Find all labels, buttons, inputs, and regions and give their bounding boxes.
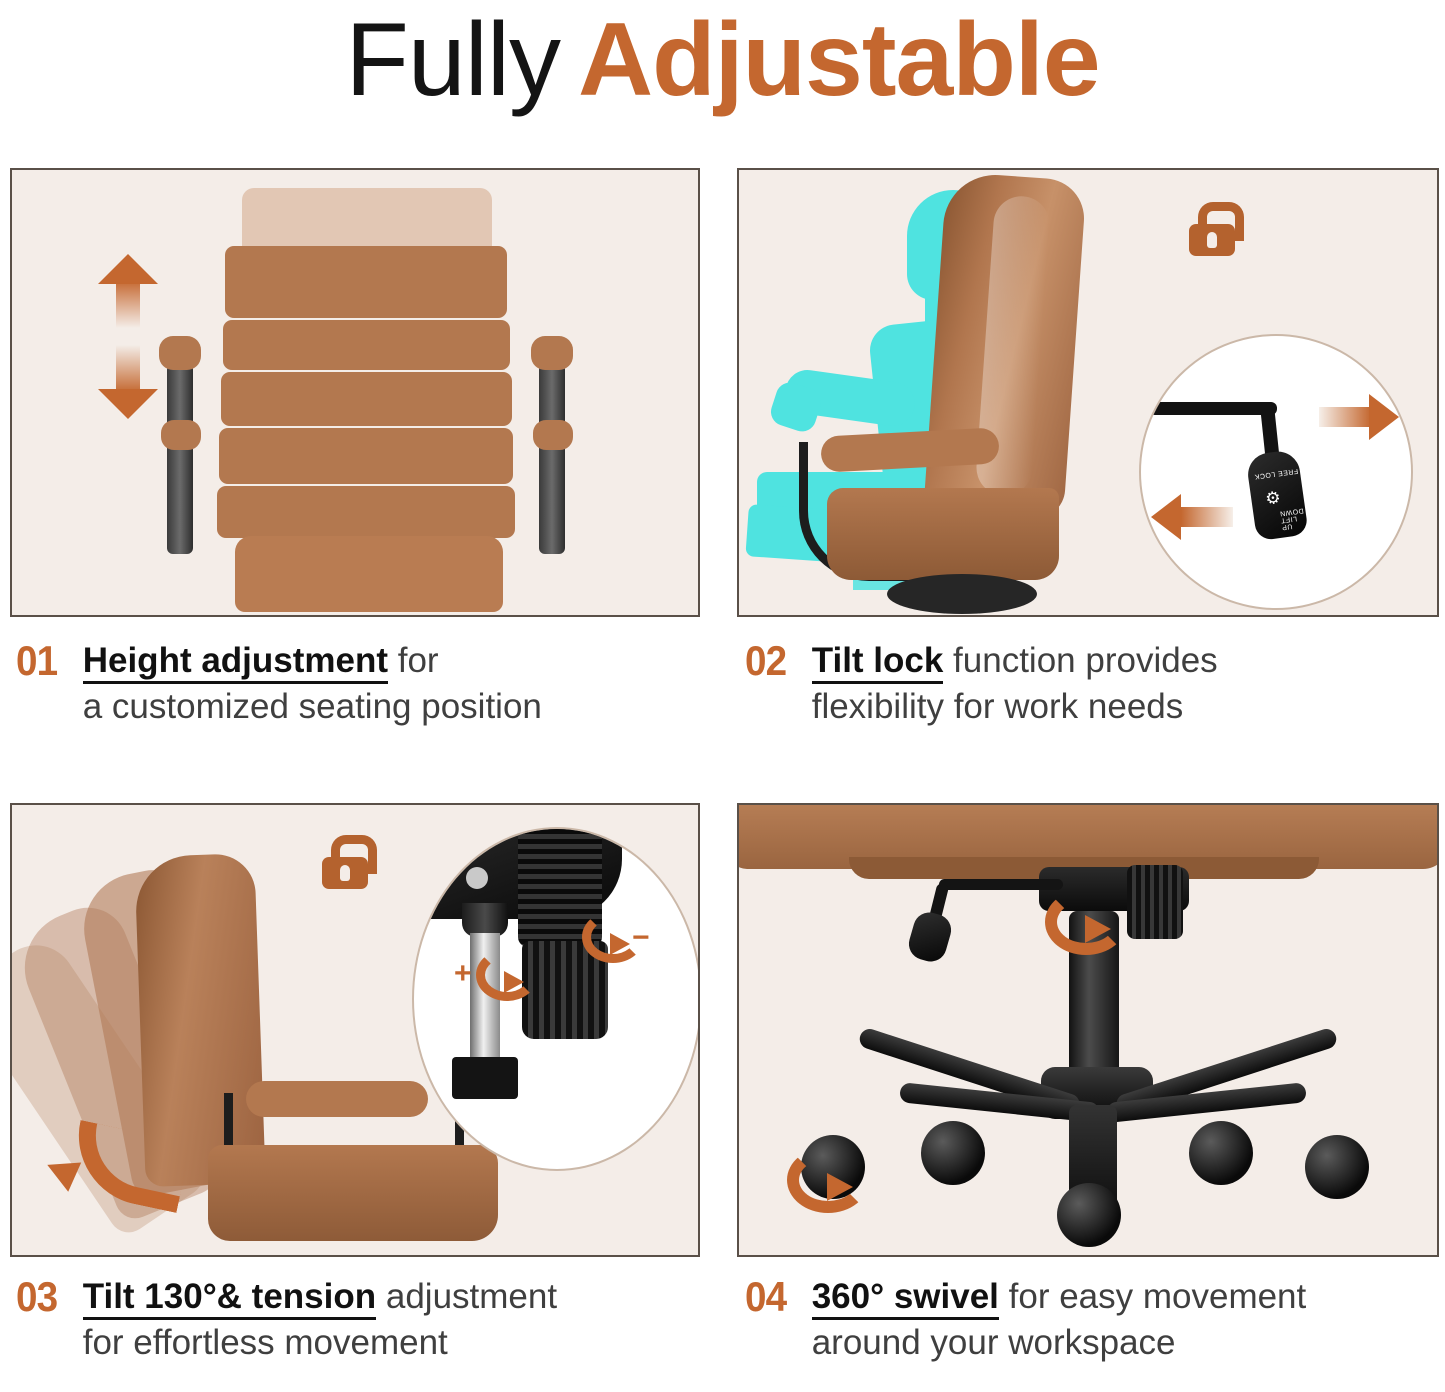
feature-caption-04: 04 360° swivel for easy movement around … xyxy=(745,1274,1445,1366)
caption-highlight: 360° swivel xyxy=(812,1277,999,1320)
chair-side-view-illustration xyxy=(857,170,1157,615)
infographic-page: FullyAdjustable xyxy=(0,0,1445,1392)
height-arrows-group xyxy=(98,254,158,419)
feature-caption-01: 01 Height adjustment for a customized se… xyxy=(16,638,706,730)
backrest-cushion-3 xyxy=(221,372,512,426)
height-lever xyxy=(879,879,1059,949)
feature-image-panel-04 xyxy=(737,803,1439,1257)
page-header: FullyAdjustable xyxy=(0,0,1445,120)
feature-number: 01 xyxy=(16,638,57,684)
rotation-arrow-icon xyxy=(582,911,638,955)
rotation-arrow-icon xyxy=(787,1147,863,1203)
caption-rest: for easy movement xyxy=(999,1277,1306,1316)
feature-caption-03: 03 Tilt 130°& tension adjustment for eff… xyxy=(16,1274,706,1366)
backrest-cushion-2 xyxy=(223,320,510,370)
caption-line-2: around your workspace xyxy=(812,1320,1445,1366)
caption-highlight: Tilt lock xyxy=(812,641,944,684)
caption-rest: adjustment xyxy=(376,1277,557,1316)
caption-rest: function provides xyxy=(943,641,1217,680)
caption-line-1: Height adjustment for xyxy=(83,638,706,684)
tension-increase-label: + xyxy=(454,957,472,991)
feature-image-panel-03: + − xyxy=(10,803,700,1257)
caption-line-1: Tilt lock function provides xyxy=(812,638,1445,684)
tension-knob-inset: + − xyxy=(412,827,700,1171)
lever-arm xyxy=(1149,402,1277,415)
rotation-arrow-icon xyxy=(1045,889,1121,945)
lever-knob: FREE LOCK ⚙ UP LIFT DOWN xyxy=(1245,449,1308,541)
arrow-right-icon xyxy=(1319,394,1401,440)
caption-line-1: 360° swivel for easy movement xyxy=(812,1274,1445,1320)
padlock-icon xyxy=(1189,202,1235,256)
feature-image-panel-01 xyxy=(10,168,700,617)
backrest-cushion-4 xyxy=(219,428,513,484)
arrow-left-icon xyxy=(1151,494,1233,540)
armrest-right xyxy=(531,336,573,551)
caster-wheel xyxy=(1305,1135,1369,1199)
chair-base xyxy=(887,574,1037,614)
caption-highlight: Tilt 130°& tension xyxy=(83,1277,376,1320)
page-title: FullyAdjustable xyxy=(345,8,1099,112)
tilt-lock-lever-inset: FREE LOCK ⚙ UP LIFT DOWN xyxy=(1139,334,1413,610)
feature-grid: FREE LOCK ⚙ UP LIFT DOWN xyxy=(0,168,1445,1392)
feature-image-panel-02: FREE LOCK ⚙ UP LIFT DOWN xyxy=(737,168,1439,617)
tension-adjust-knob xyxy=(1127,865,1183,939)
backrest-cushion-5 xyxy=(217,486,515,538)
title-part-primary: Fully xyxy=(345,2,560,118)
armrest-pad xyxy=(246,1081,428,1117)
feature-number: 03 xyxy=(16,1274,57,1320)
seat-cushion xyxy=(208,1145,498,1241)
armrest-left xyxy=(159,336,201,551)
seat-cushion xyxy=(827,488,1059,580)
recline-arrow-icon xyxy=(46,1131,164,1195)
caption-line-2: flexibility for work needs xyxy=(812,684,1445,730)
feature-caption-02: 02 Tilt lock function provides flexibili… xyxy=(745,638,1445,730)
title-part-accent: Adjustable xyxy=(578,2,1100,118)
caption-line-2: a customized seating position xyxy=(83,684,706,730)
caster-wheel xyxy=(921,1121,985,1185)
caption-line-1: Tilt 130°& tension adjustment xyxy=(83,1274,706,1320)
knob-glyph-icon: ⚙ xyxy=(1264,486,1282,508)
seat-cushion xyxy=(235,536,503,612)
tension-decrease-label: − xyxy=(632,921,650,955)
mechanism-bolt xyxy=(466,867,488,889)
arrow-down-icon xyxy=(98,345,158,419)
feature-number: 02 xyxy=(745,638,786,684)
backrest-cushion-1 xyxy=(225,246,507,318)
padlock-icon xyxy=(322,835,368,889)
chair-front-view-illustration xyxy=(217,188,517,617)
arrow-up-icon xyxy=(98,254,158,328)
rotation-arrow-icon xyxy=(476,949,532,993)
caption-highlight: Height adjustment xyxy=(83,641,388,684)
knob-label-top: FREE LOCK xyxy=(1254,467,1299,480)
caster-wheel xyxy=(1189,1121,1253,1185)
headrest xyxy=(242,188,492,250)
caption-rest: for xyxy=(388,641,439,680)
caption-line-2: for effortless movement xyxy=(83,1320,706,1366)
feature-number: 04 xyxy=(745,1274,786,1320)
caster-wheel xyxy=(1057,1183,1121,1247)
knob-label-bottom: UP LIFT DOWN xyxy=(1279,506,1308,530)
